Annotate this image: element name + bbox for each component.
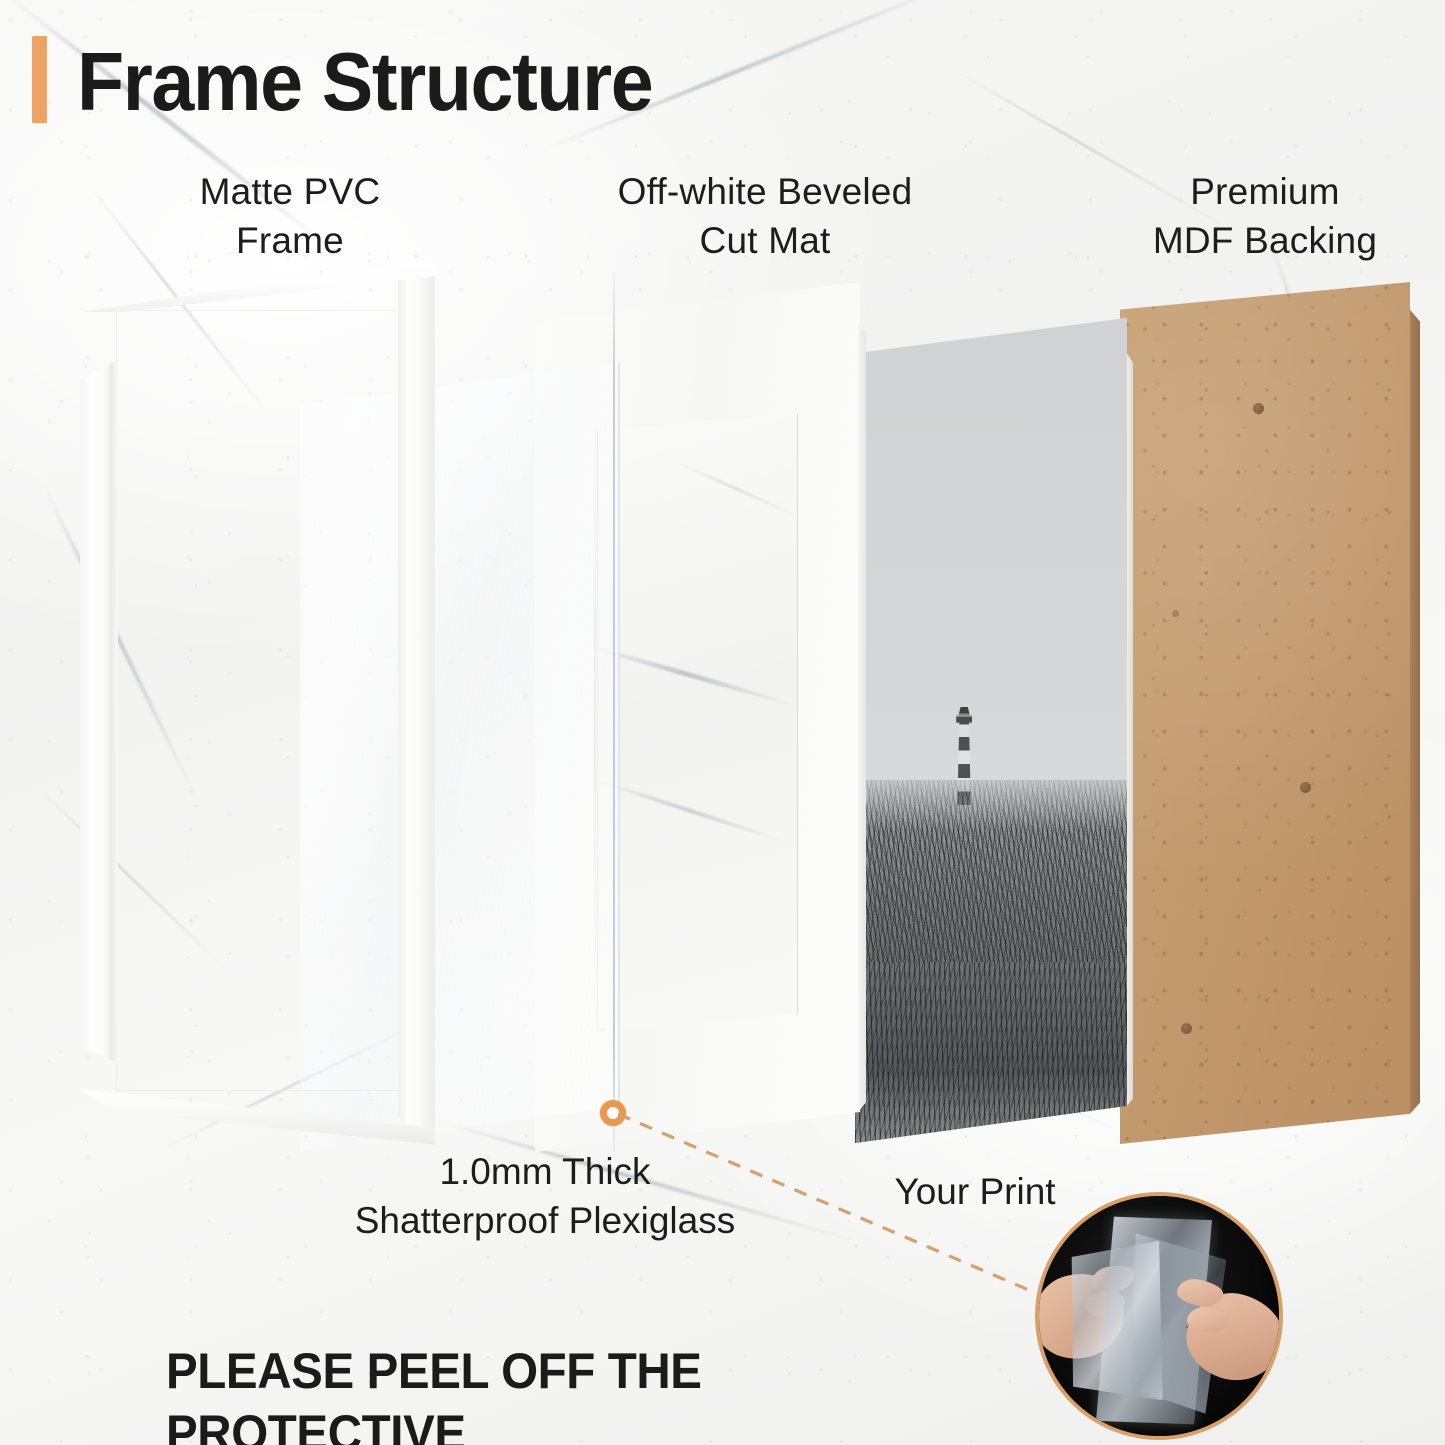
callout-marker-dot [600,1100,626,1126]
warning-text: PLEASE PEEL OFF THE PROTECTIVE FILMS ON … [166,1278,1002,1445]
layer-mdf-backing [1120,282,1410,1144]
protective-film-front [1063,1241,1170,1413]
frame-body [80,262,435,1147]
warning-line-1: PLEASE PEEL OFF THE PROTECTIVE [166,1343,702,1445]
photo-canvas [855,318,1127,1143]
peel-film-photo-inset [1035,1192,1283,1440]
layer-print-photo [855,318,1127,1143]
mdf-grain-texture [1120,282,1410,1144]
layer-pvc-frame [80,262,435,1147]
frame-bottom-rail [80,1089,435,1147]
frame-top-rail [80,262,435,312]
frame-right-inner-lip [398,262,407,1147]
infographic-canvas: Frame Structure [0,0,1445,1445]
mdf-speck [1300,782,1311,793]
label-mdf-backing: Premium MDF Backing [1090,168,1440,266]
mat-edge [858,282,866,1152]
mdf-edge [1410,282,1420,1144]
frame-left-inner-lip [110,262,118,1147]
plexiglass-edge-line [613,272,615,1152]
print-edge [1127,318,1133,1143]
frame-inner-shadow [116,310,403,1091]
dune-grass-foreground [855,962,1127,1144]
label-matte-pvc-frame: Matte PVC Frame [110,168,470,266]
frame-left-rail [80,262,114,1147]
label-cut-mat: Off-white Beveled Cut Mat [545,168,985,266]
photo-sky [855,318,1127,846]
mdf-speck [1172,610,1179,617]
frame-right-rail [405,262,435,1147]
label-plexiglass: 1.0mm Thick Shatterproof Plexiglass [250,1148,840,1246]
mat-window-opening [597,413,799,1031]
